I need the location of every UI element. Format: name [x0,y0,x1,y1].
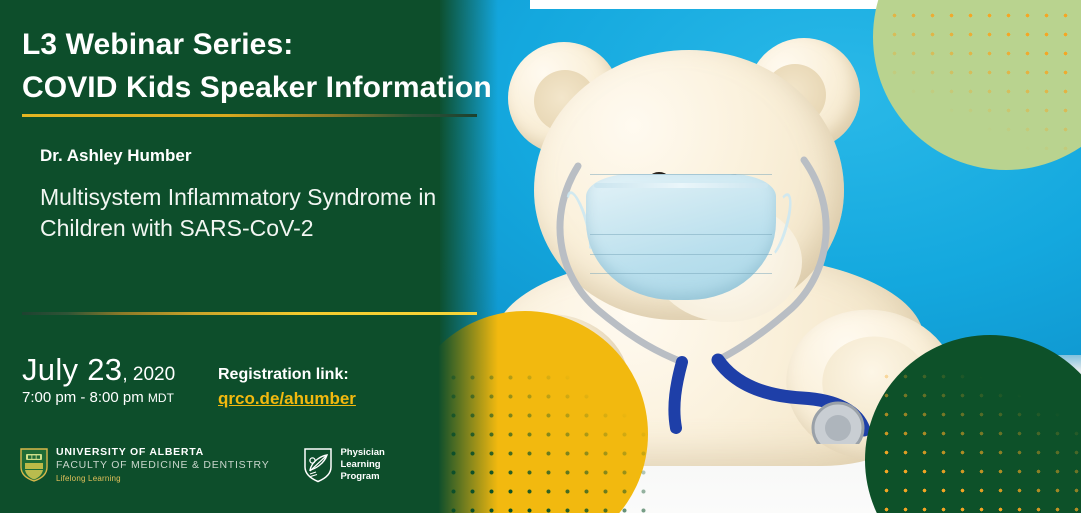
mask-pleat [590,234,772,235]
talk-title: Multisystem Inflammatory Syndrome in Chi… [40,182,440,244]
decor-dots-top-right [881,0,1081,150]
plp-shield-leaf-icon [303,447,333,483]
plp-line-1: Physician [340,447,384,459]
divider-bottom [22,312,477,315]
poster-title-line1: L3 Webinar Series: [22,28,293,62]
physician-learning-program-logo: Physician Learning Program [303,447,384,483]
registration-label: Registration link: [218,366,349,384]
event-time: 7:00 pm - 8:00 pm MDT [22,389,174,406]
webinar-poster: L3 Webinar Series: COVID Kids Speaker In… [0,0,1081,513]
event-timezone: MDT [148,391,174,405]
registration-link[interactable]: qrco.de/ahumber [218,389,356,409]
plp-line-2: Learning [340,459,384,471]
ua-logo-text: UNIVERSITY OF ALBERTA FACULTY OF MEDICIN… [56,447,269,483]
ua-shield-icon [20,448,48,482]
divider-top [22,114,477,117]
mask-pleat [590,174,772,175]
top-white-strip [530,0,891,9]
event-date: July 23, 2020 [22,352,175,388]
poster-content: L3 Webinar Series: COVID Kids Speaker In… [0,0,498,513]
ua-line-2: FACULTY OF MEDICINE & DENTISTRY [56,460,269,471]
plp-line-3: Program [340,471,384,483]
ua-line-1: UNIVERSITY OF ALBERTA [56,447,269,458]
mask-pleat [590,273,772,274]
mask-pleat [590,254,772,255]
event-date-year: , 2020 [122,364,175,385]
poster-title-line2: COVID Kids Speaker Information [22,71,492,105]
university-of-alberta-logo: UNIVERSITY OF ALBERTA FACULTY OF MEDICIN… [20,447,269,483]
ua-line-3: Lifelong Learning [56,475,269,483]
plp-logo-text: Physician Learning Program [340,447,384,483]
decor-dots-bottom-right [871,363,1081,513]
logo-row: UNIVERSITY OF ALBERTA FACULTY OF MEDICIN… [20,447,385,483]
mask-nose-wire [594,183,768,188]
event-time-range: 7:00 pm - 8:00 pm [22,389,148,406]
event-date-day: July 23 [22,352,122,387]
speaker-name: Dr. Ashley Humber [40,146,191,166]
